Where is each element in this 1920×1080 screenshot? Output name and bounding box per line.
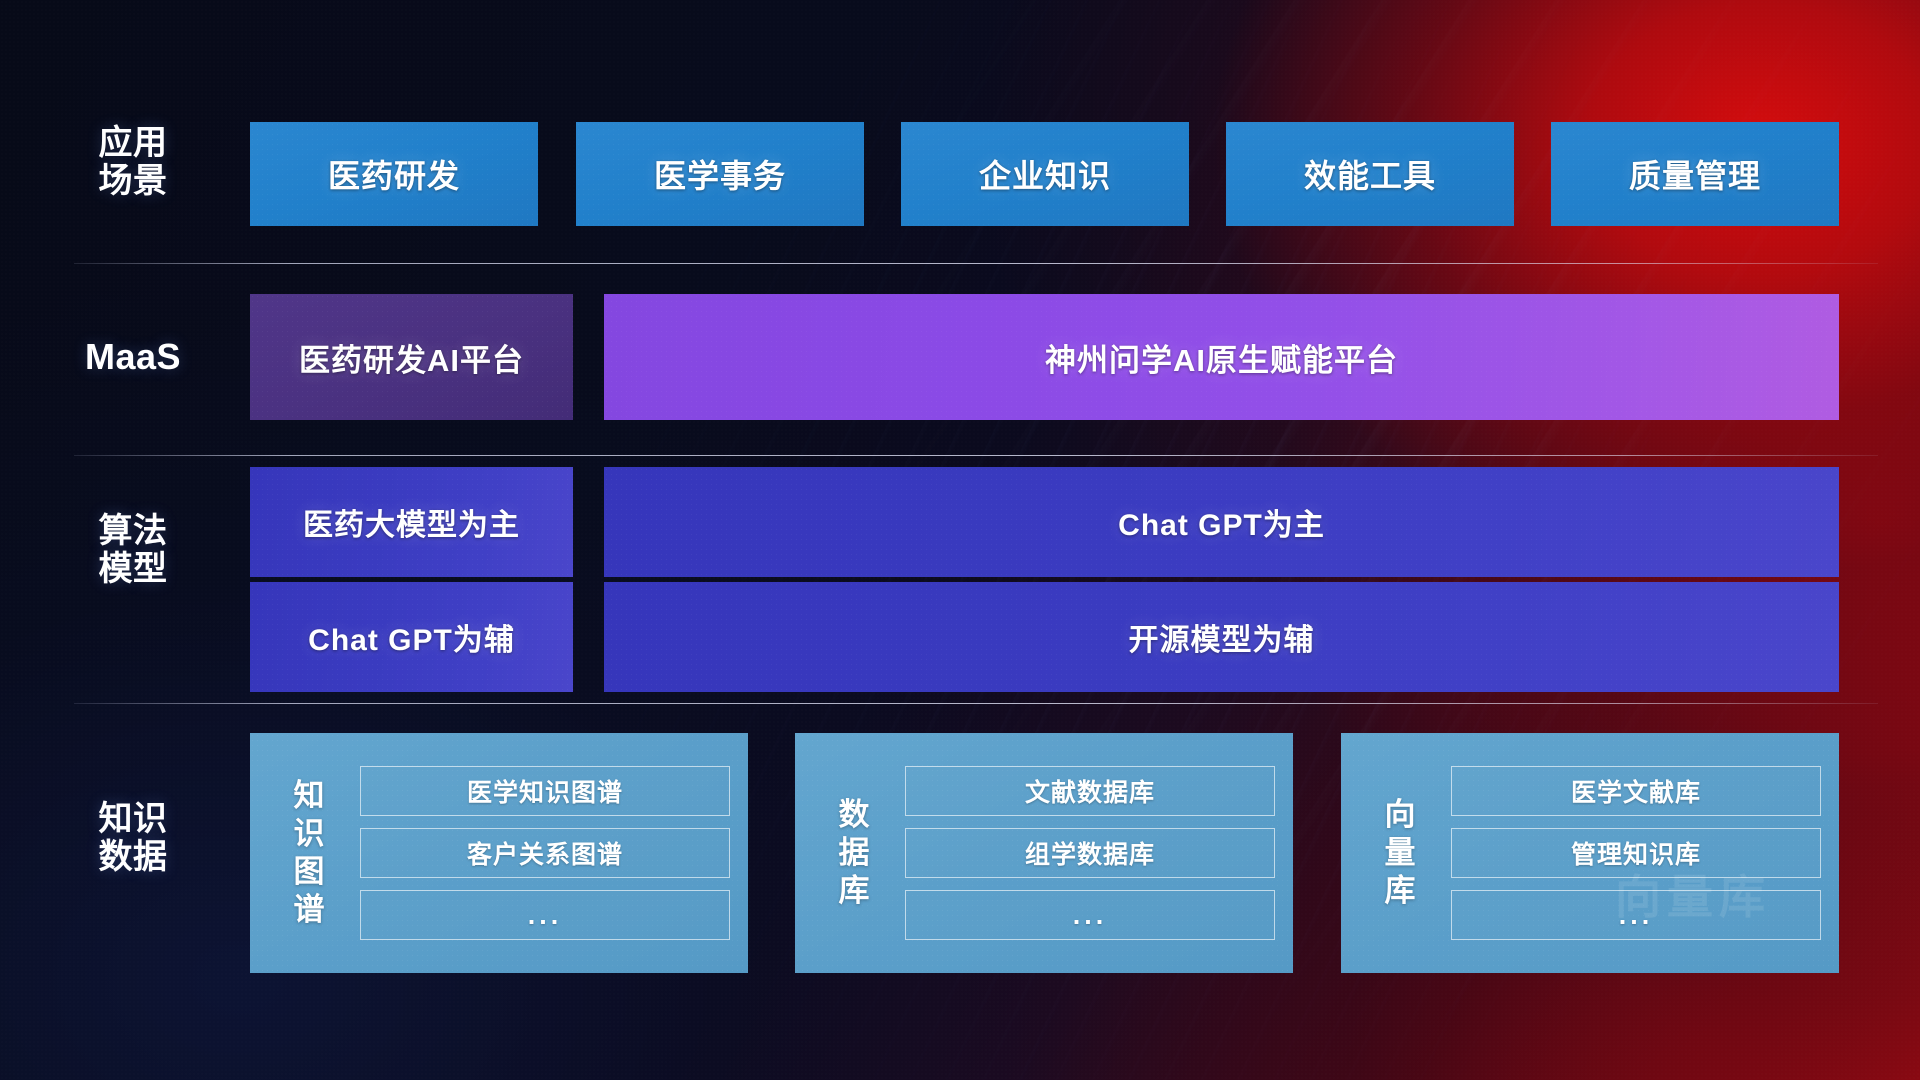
maas-box-left-label: 医药研发AI平台 (299, 335, 524, 380)
row-label-knowledge: 知识 数据 (74, 800, 192, 876)
app-box-1-label: 医药研发 (328, 151, 460, 197)
knowledge-card-vector[interactable]: 向 量 库 医学文献库 管理知识库 ... 向量库 (1341, 733, 1839, 973)
maas-box-left[interactable]: 医药研发AI平台 (250, 294, 573, 420)
knowledge-card-vector-items: 医学文献库 管理知识库 ... (1451, 766, 1839, 940)
divider-after-maas (74, 455, 1878, 456)
divider-after-application (74, 263, 1878, 264)
algo-box-right-1[interactable]: Chat GPT为主 (604, 467, 1839, 577)
knowledge-card-database-title: 数 据 库 (817, 796, 891, 909)
knowledge-card-graph-title: 知 识 图 谱 (272, 777, 346, 928)
knowledge-item-more[interactable]: ... (360, 890, 730, 940)
knowledge-item-more[interactable]: ... (905, 890, 1275, 940)
app-box-5-label: 质量管理 (1629, 151, 1761, 197)
row-label-application: 应用 场景 (74, 124, 192, 200)
app-box-5[interactable]: 质量管理 (1551, 122, 1839, 226)
diagram-canvas: 应用 场景 医药研发 医学事务 企业知识 效能工具 质量管理 MaaS 医药研发… (0, 0, 1920, 1080)
knowledge-item-more[interactable]: ... (1451, 890, 1821, 940)
app-box-4[interactable]: 效能工具 (1226, 122, 1514, 226)
knowledge-item[interactable]: 文献数据库 (905, 766, 1275, 816)
algo-box-left-1[interactable]: 医药大模型为主 (250, 467, 573, 577)
algo-box-right-1-label: Chat GPT为主 (1118, 500, 1325, 544)
row-label-algorithm: 算法 模型 (74, 512, 192, 588)
app-box-3[interactable]: 企业知识 (901, 122, 1189, 226)
app-box-4-label: 效能工具 (1304, 151, 1436, 197)
knowledge-item[interactable]: 医学文献库 (1451, 766, 1821, 816)
divider-after-algorithm (74, 703, 1878, 704)
algo-box-left-2-label: Chat GPT为辅 (308, 615, 515, 659)
knowledge-item[interactable]: 管理知识库 (1451, 828, 1821, 878)
maas-box-right-label: 神州问学AI原生赋能平台 (1045, 335, 1398, 380)
maas-box-right[interactable]: 神州问学AI原生赋能平台 (604, 294, 1839, 420)
app-box-1[interactable]: 医药研发 (250, 122, 538, 226)
algo-box-left-1-label: 医药大模型为主 (303, 500, 520, 544)
knowledge-card-database-items: 文献数据库 组学数据库 ... (905, 766, 1293, 940)
app-box-2-label: 医学事务 (654, 151, 786, 197)
knowledge-card-database[interactable]: 数 据 库 文献数据库 组学数据库 ... (795, 733, 1293, 973)
knowledge-item[interactable]: 医学知识图谱 (360, 766, 730, 816)
knowledge-item[interactable]: 客户关系图谱 (360, 828, 730, 878)
algo-box-left-2[interactable]: Chat GPT为辅 (250, 582, 573, 692)
algo-box-right-2[interactable]: 开源模型为辅 (604, 582, 1839, 692)
knowledge-item[interactable]: 组学数据库 (905, 828, 1275, 878)
knowledge-card-vector-title: 向 量 库 (1363, 796, 1437, 909)
knowledge-card-graph-items: 医学知识图谱 客户关系图谱 ... (360, 766, 748, 940)
app-box-3-label: 企业知识 (979, 151, 1111, 197)
app-box-2[interactable]: 医学事务 (576, 122, 864, 226)
knowledge-card-graph[interactable]: 知 识 图 谱 医学知识图谱 客户关系图谱 ... (250, 733, 748, 973)
algo-box-right-2-label: 开源模型为辅 (1129, 615, 1315, 659)
row-label-maas: MaaS (74, 337, 192, 377)
